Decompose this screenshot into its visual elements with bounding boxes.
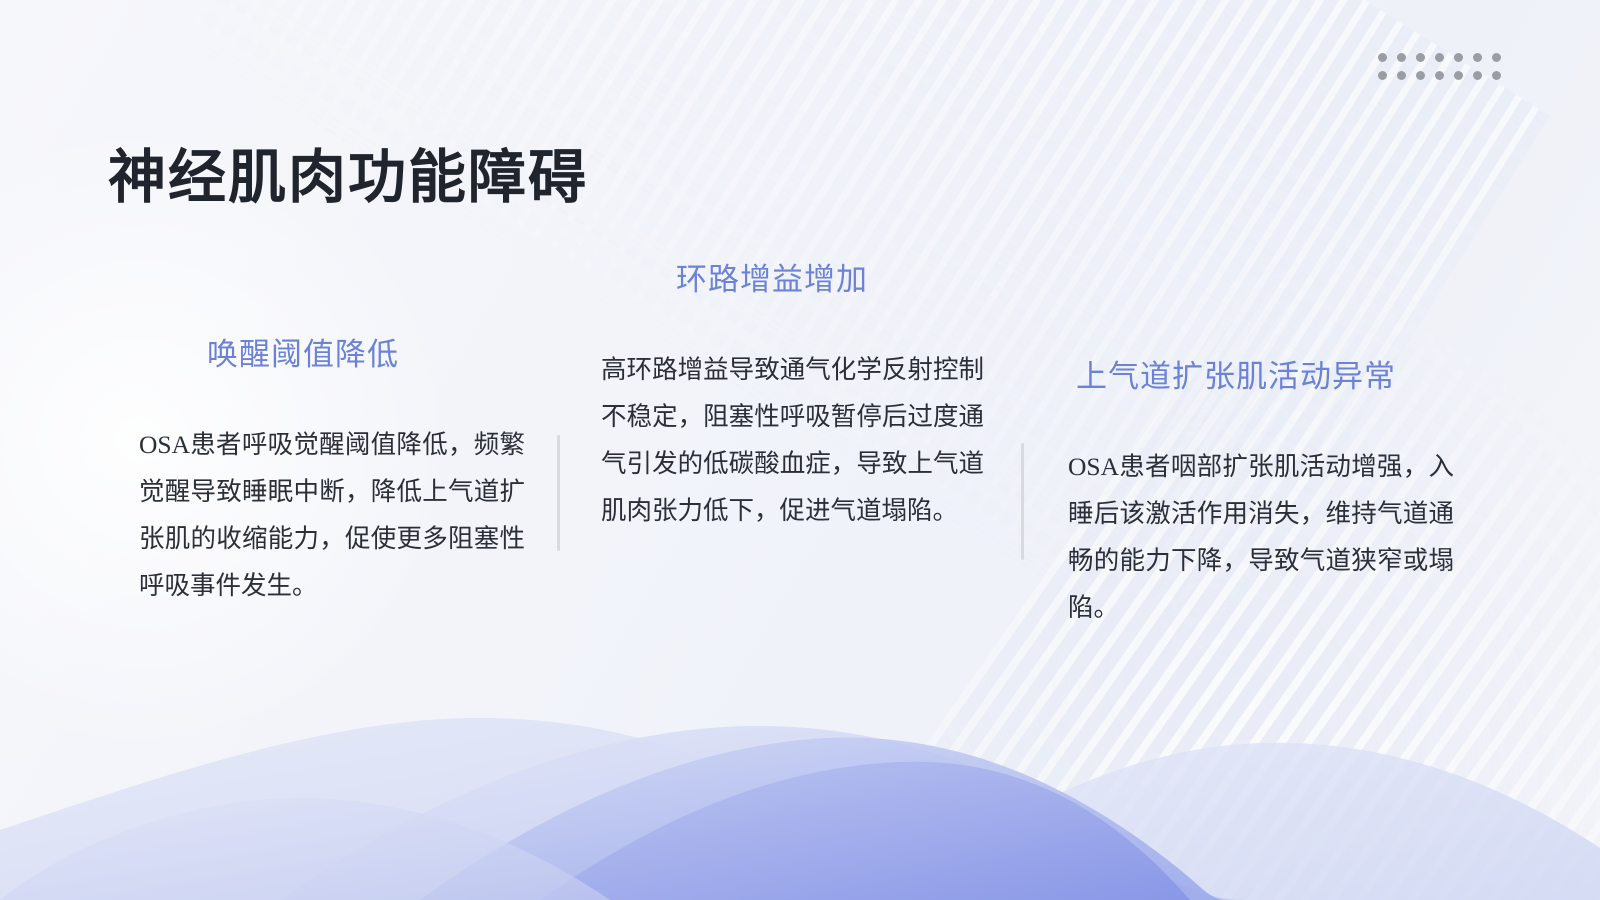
content-column-1: 唤醒阈值降低 OSA患者呼吸觉醒阈值降低，频繁觉醒导致睡眠中断，降低上气道扩张肌…	[125, 336, 525, 609]
content-column-3: 上气道扩张肌活动异常 OSA患者咽部扩张肌活动增强，入睡后该激活作用消失，维持气…	[1058, 358, 1458, 631]
content-column-2: 环路增益增加 高环路增益导致通气化学反射控制不稳定，阻塞性呼吸暂停后过度通气引发…	[592, 261, 992, 534]
column-1-body: OSA患者呼吸觉醒阈值降低，频繁觉醒导致睡眠中断，降低上气道扩张肌的收缩能力，促…	[139, 421, 525, 610]
column-divider-2	[1021, 443, 1024, 560]
column-1-heading: 唤醒阈值降低	[125, 336, 525, 375]
column-3-heading: 上气道扩张肌活动异常	[1058, 358, 1458, 397]
column-3-body: OSA患者咽部扩张肌活动增强，入睡后该激活作用消失，维持气道通畅的能力下降，导致…	[1068, 443, 1454, 632]
column-divider-1	[557, 435, 560, 551]
column-2-heading: 环路增益增加	[592, 261, 992, 300]
content-columns: 唤醒阈值降低 OSA患者呼吸觉醒阈值降低，频繁觉醒导致睡眠中断，降低上气道扩张肌…	[0, 0, 1600, 900]
slide-canvas: 神经肌肉功能障碍 唤醒阈值降低 OSA患者呼吸觉醒阈值降低，频繁觉醒导致睡眠中断…	[0, 0, 1600, 900]
column-2-body: 高环路增益导致通气化学反射控制不稳定，阻塞性呼吸暂停后过度通气引发的低碳酸血症，…	[601, 346, 984, 535]
